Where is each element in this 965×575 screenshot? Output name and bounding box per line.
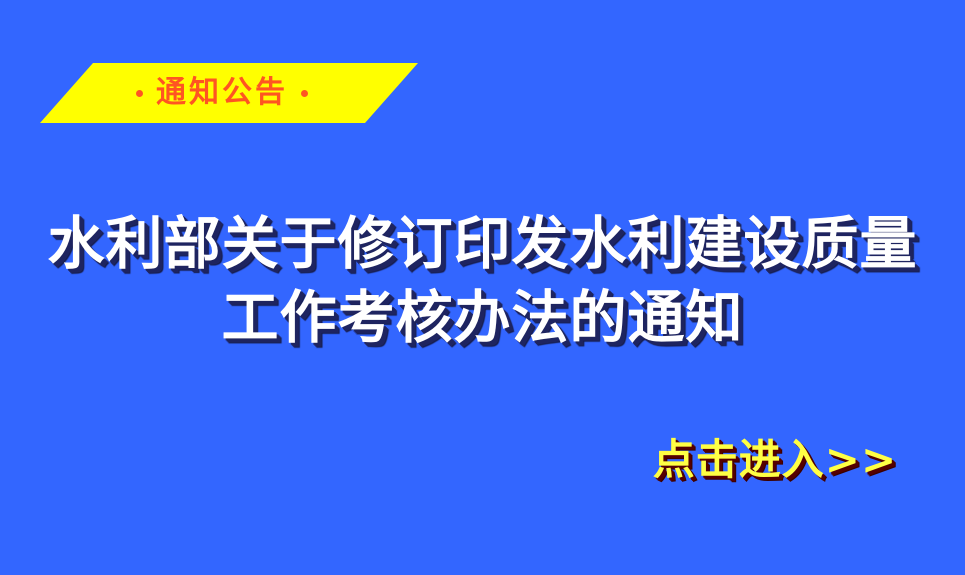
- enter-link-container: 点击进入>>: [645, 436, 905, 484]
- dot-separator-left-icon: [136, 90, 143, 97]
- banner-label: 通知公告: [156, 78, 288, 108]
- page-title-line-2: 工作考核办法的通知: [0, 281, 965, 355]
- announcement-slide: 通知公告 水利部关于修订印发水利建设质量 工作考核办法的通知 点击进入>>: [0, 0, 965, 575]
- notice-banner: 通知公告: [40, 63, 418, 123]
- page-title-line-1: 水利部关于修订印发水利建设质量: [0, 207, 965, 281]
- page-title: 水利部关于修订印发水利建设质量 工作考核办法的通知: [0, 207, 965, 355]
- dot-separator-right-icon: [301, 90, 308, 97]
- enter-link[interactable]: 点击进入>>: [653, 436, 897, 484]
- banner-content: 通知公告: [40, 63, 418, 123]
